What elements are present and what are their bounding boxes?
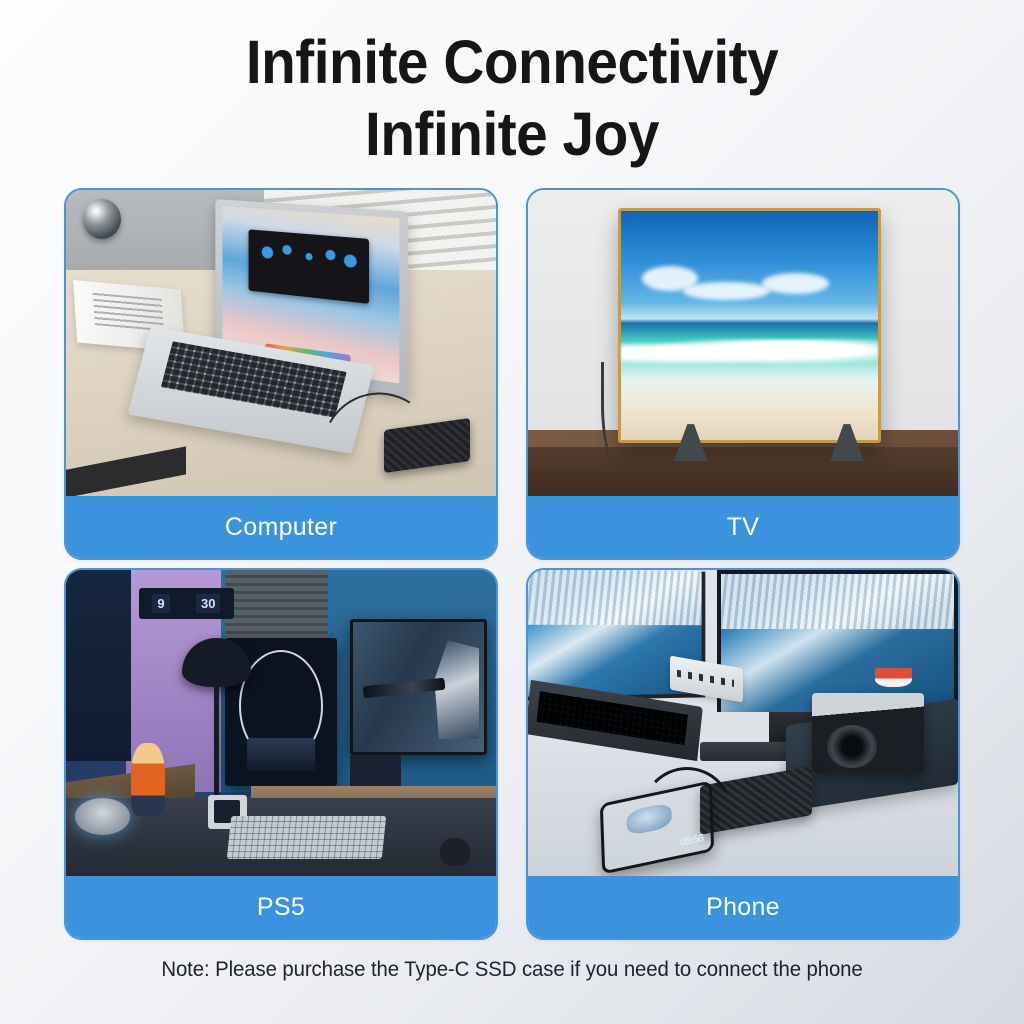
screen-window (248, 230, 368, 305)
phone-photo: 05:56 (528, 570, 958, 878)
device-card-grid: Computer TV (64, 188, 960, 940)
gaming-setup-scene: 9 30 (66, 570, 496, 878)
tv-livingroom-scene (528, 190, 958, 498)
sea-foam (621, 339, 877, 366)
mechanical-keyboard (227, 816, 386, 859)
device-card-label-computer: Computer (66, 496, 496, 558)
monitor-wallpaper-snow (721, 574, 954, 629)
phone-screen-time: 05:56 (680, 832, 704, 849)
magsafe-pad (627, 802, 672, 836)
device-card-label-ps5: PS5 (66, 876, 496, 938)
device-card-computer[interactable]: Computer (64, 188, 498, 560)
laptop-desk-scene (66, 190, 496, 498)
camera (812, 693, 924, 773)
decor-orb (75, 798, 131, 835)
tv-stand-legs (670, 424, 868, 461)
desktop-monitor (717, 570, 958, 712)
laptop-keyboard (537, 691, 688, 745)
cloud (762, 273, 829, 294)
page-title: Infinite Connectivity Infinite Joy (0, 0, 1024, 170)
gaming-monitor-right (350, 619, 488, 755)
device-card-label-tv: TV (528, 496, 958, 558)
anime-figurine (131, 743, 165, 817)
computer-photo (66, 190, 496, 498)
footer-note: Note: Please purchase the Type-C SSD cas… (15, 958, 1008, 982)
television (618, 208, 880, 442)
flip-clock-minute: 30 (196, 594, 220, 613)
ps5-photo: 9 30 (66, 570, 496, 878)
monitor-wallpaper-boat (875, 668, 912, 687)
cloud (683, 282, 770, 300)
screen-mountain-graphic (247, 738, 314, 771)
page-title-line-1: Infinite Connectivity (36, 26, 988, 98)
device-card-phone[interactable]: 05:56 Phone (526, 568, 960, 940)
gaming-mouse (440, 838, 470, 866)
device-card-label-phone: Phone (528, 876, 958, 938)
game-sniper-rifle (363, 678, 445, 698)
flip-clock: 9 30 (139, 588, 234, 619)
flip-clock-hour: 9 (152, 594, 169, 613)
smartphone: 05:56 (600, 780, 714, 874)
shelf-unit (66, 570, 131, 761)
phone-desk-scene: 05:56 (528, 570, 958, 878)
laptop-wallpaper-snow (528, 570, 701, 625)
device-card-ps5[interactable]: 9 30 (64, 568, 498, 940)
tv-screen-beach-image (621, 211, 877, 439)
device-card-tv[interactable]: TV (526, 188, 960, 560)
page-title-line-2: Infinite Joy (36, 98, 988, 170)
tv-photo (528, 190, 958, 498)
